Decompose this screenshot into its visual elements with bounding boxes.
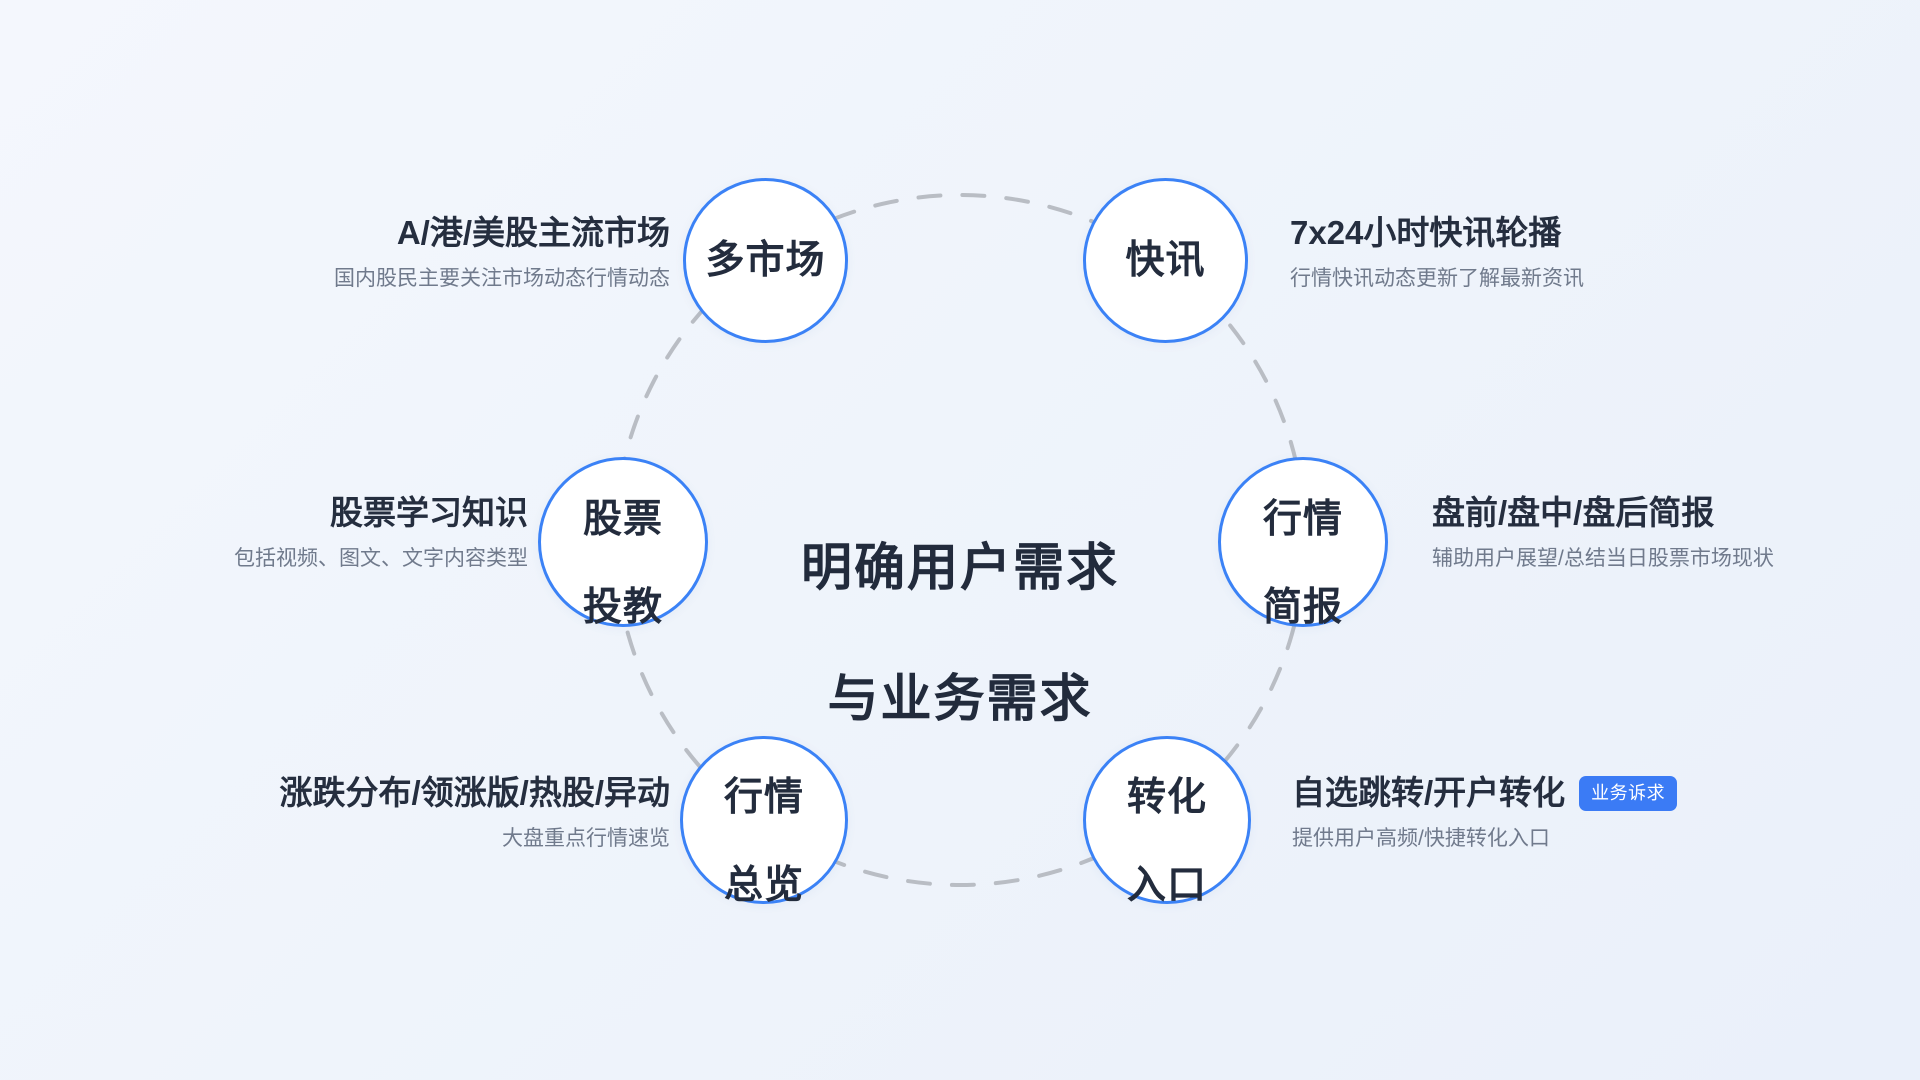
text-subtitle-conversion-entry: 提供用户高频/快捷转化入口 xyxy=(1292,824,1677,854)
text-subtitle-market-brief: 辅助用户展望/总结当日股票市场现状 xyxy=(1432,544,1774,574)
node-label-line2: 入口 xyxy=(1127,864,1207,907)
node-label-flash-news: 快讯 xyxy=(1125,239,1205,283)
text-subtitle-market-overview: 大盘重点行情速览 xyxy=(279,824,670,854)
node-label-line2: 简报 xyxy=(1263,586,1343,629)
text-block-stock-education: 股票学习知识 包括视频、图文、文字内容类型 xyxy=(234,492,528,574)
node-label-multi-market: 多市场 xyxy=(705,239,825,283)
node-label-line2: 总览 xyxy=(724,864,804,907)
text-subtitle-flash-news: 行情快讯动态更新了解最新资讯 xyxy=(1290,264,1584,294)
text-title-market-overview: 涨跌分布/领涨版/热股/异动 xyxy=(279,772,670,815)
text-subtitle-stock-education: 包括视频、图文、文字内容类型 xyxy=(234,544,528,574)
text-title-market-brief: 盘前/盘中/盘后简报 xyxy=(1432,492,1774,535)
node-stock-education[interactable]: 股票 投教 xyxy=(538,457,708,627)
status-badge-business-demand: 业务诉求 xyxy=(1579,776,1677,811)
center-title: 明确用户需求 与业务需求 xyxy=(760,470,1160,796)
text-title-label: 自选跳转/开户转化 xyxy=(1292,772,1565,815)
text-block-flash-news: 7x24小时快讯轮播 行情快讯动态更新了解最新资讯 xyxy=(1290,212,1584,294)
node-label-line2: 投教 xyxy=(583,586,663,629)
diagram-canvas: 多市场 快讯 行情 简报 转化 入口 行情 总览 股票 投教 明确用户需求 与业 xyxy=(0,0,1920,1080)
node-label-market-brief: 行情 简报 xyxy=(1263,455,1343,630)
text-title-flash-news: 7x24小时快讯轮播 xyxy=(1290,212,1584,255)
center-title-line1: 明确用户需求 xyxy=(760,535,1160,600)
node-multi-market[interactable]: 多市场 xyxy=(683,178,848,343)
text-title-conversion-entry: 自选跳转/开户转化 业务诉求 xyxy=(1292,772,1677,815)
text-title-multi-market: A/港/美股主流市场 xyxy=(334,212,670,255)
text-block-multi-market: A/港/美股主流市场 国内股民主要关注市场动态行情动态 xyxy=(334,212,670,294)
node-market-brief[interactable]: 行情 简报 xyxy=(1218,457,1388,627)
text-subtitle-multi-market: 国内股民主要关注市场动态行情动态 xyxy=(334,264,670,294)
text-title-stock-education: 股票学习知识 xyxy=(234,492,528,535)
center-title-line2: 与业务需求 xyxy=(760,666,1160,731)
node-flash-news[interactable]: 快讯 xyxy=(1083,178,1248,343)
text-block-conversion-entry: 自选跳转/开户转化 业务诉求 提供用户高频/快捷转化入口 xyxy=(1292,772,1677,854)
node-label-stock-education: 股票 投教 xyxy=(583,455,663,630)
text-block-market-brief: 盘前/盘中/盘后简报 辅助用户展望/总结当日股票市场现状 xyxy=(1432,492,1774,574)
node-label-line1: 股票 xyxy=(583,498,663,541)
node-label-line1: 行情 xyxy=(1263,498,1343,541)
text-block-market-overview: 涨跌分布/领涨版/热股/异动 大盘重点行情速览 xyxy=(279,772,670,854)
